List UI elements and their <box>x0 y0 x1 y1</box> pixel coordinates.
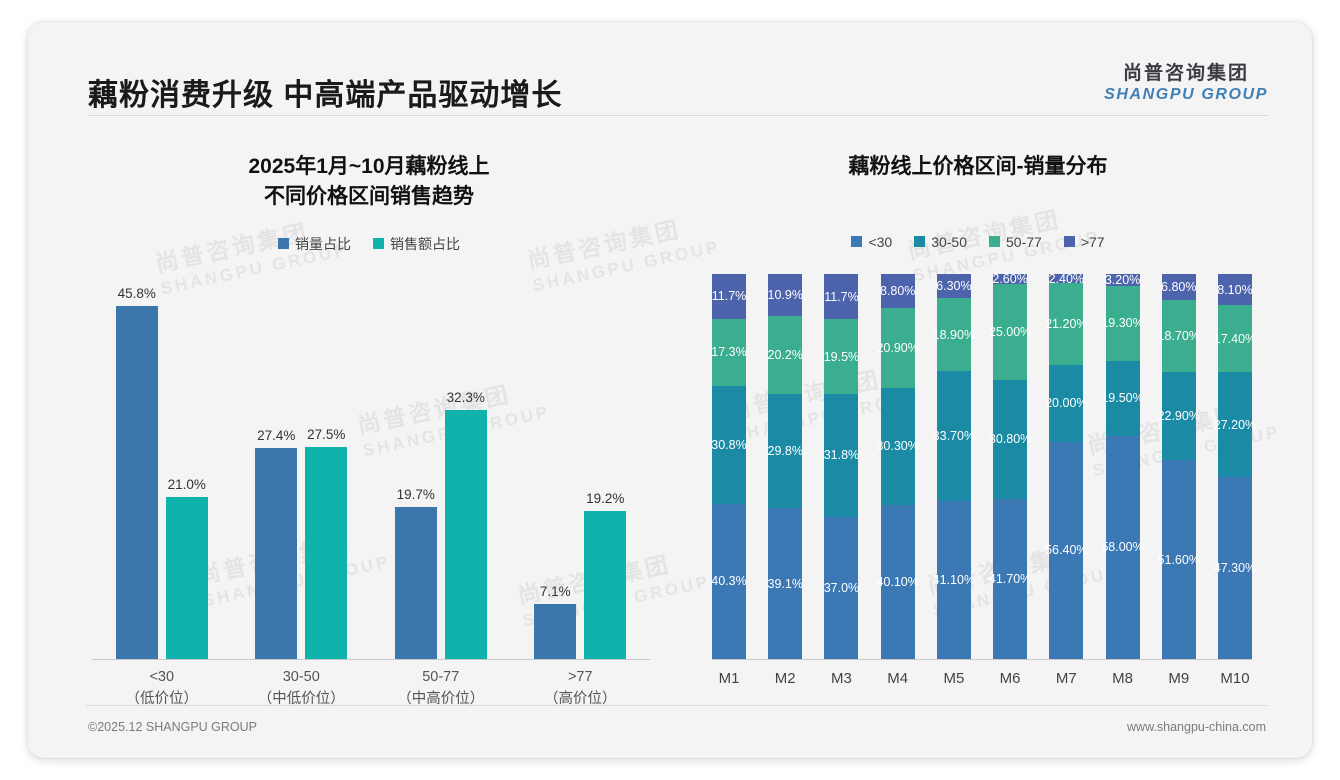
bar-value-label: 27.4% <box>257 428 295 443</box>
stack-segment-label: 27.20% <box>1214 418 1256 432</box>
x-axis-label: <30（低价位） <box>102 667 222 711</box>
stack-segment[interactable]: 30.80% <box>993 380 1027 498</box>
legend-label: >77 <box>1081 234 1105 250</box>
legend-item-77[interactable]: >77 <box>1064 234 1105 250</box>
stack-segment[interactable]: 18.90% <box>937 298 971 371</box>
legend-label: <30 <box>868 234 892 250</box>
stack-segment-label: 3.20% <box>1105 273 1140 287</box>
legend-item-volume[interactable]: 销量占比 <box>278 234 351 254</box>
stack-segment[interactable]: 6.80% <box>1162 274 1196 300</box>
stacked-bar-plot: 11.7%17.3%30.8%40.3%10.9%20.2%29.8%39.1%… <box>712 274 1252 660</box>
stack-segment[interactable]: 41.70% <box>993 499 1027 659</box>
stack-segment[interactable]: 40.10% <box>881 505 915 659</box>
x-axis-label: 50-77（中高价位） <box>381 667 501 711</box>
bar-rect[interactable] <box>305 447 347 659</box>
stack-segment[interactable]: 51.60% <box>1162 460 1196 659</box>
stacked-bar: 6.80%18.70%22.90%51.60% <box>1162 274 1196 659</box>
bar-group: 7.1%19.2% <box>534 274 626 659</box>
stack-segment[interactable]: 29.8% <box>768 394 802 509</box>
stack-segment[interactable]: 39.1% <box>768 508 802 659</box>
stack-segment-label: 39.1% <box>768 577 803 591</box>
left-x-axis-labels: <30（低价位）30-50（中低价位）50-77（中高价位）>77（高价位） <box>92 667 650 711</box>
stack-segment[interactable]: 27.20% <box>1218 372 1252 477</box>
legend-item-50-77[interactable]: 50-77 <box>989 234 1042 250</box>
x-axis-label-month: M7 <box>1049 670 1083 687</box>
legend-label: 销量占比 <box>295 234 351 254</box>
stacked-bar: 3.20%19.30%19.50%58.00% <box>1106 274 1140 659</box>
x-axis-label-month: M8 <box>1106 670 1140 687</box>
bar-value-label: 27.5% <box>307 427 345 442</box>
footer-divider <box>86 705 1268 706</box>
stack-segment-label: 11.7% <box>824 290 859 304</box>
stack-segment[interactable]: 17.3% <box>712 319 746 386</box>
stack-segment-label: 40.3% <box>711 574 746 588</box>
x-axis-label: >77（高价位） <box>520 667 640 711</box>
stack-segment-label: 30.80% <box>989 432 1031 446</box>
stack-segment-label: 19.5% <box>824 350 859 364</box>
stack-segment-label: 11.7% <box>712 289 747 303</box>
left-chart-title-line1: 2025年1月~10月藕粉线上 <box>74 152 664 182</box>
stack-segment-label: 8.10% <box>1217 283 1252 297</box>
stack-segment-label: 6.30% <box>936 279 971 293</box>
stack-segment[interactable]: 10.9% <box>768 274 802 316</box>
stack-segment-label: 37.0% <box>824 581 859 595</box>
left-chart-title: 2025年1月~10月藕粉线上 不同价格区间销售趋势 <box>74 122 664 212</box>
bar-rect[interactable] <box>166 497 208 659</box>
x-axis-label: 30-50（中低价位） <box>241 667 361 711</box>
left-chart-panel: 2025年1月~10月藕粉线上 不同价格区间销售趋势 销量占比 销售额占比 45… <box>74 122 664 712</box>
x-axis-label-month: M5 <box>937 670 971 687</box>
stack-segment-label: 18.90% <box>933 328 975 342</box>
stack-segment[interactable]: 17.40% <box>1218 305 1252 372</box>
stacked-bar: 6.30%18.90%33.70%41.10% <box>937 274 971 659</box>
stack-segment-label: 58.00% <box>1101 540 1143 554</box>
stack-segment-label: 29.8% <box>768 444 803 458</box>
legend-item-30-50[interactable]: 30-50 <box>914 234 967 250</box>
stack-segment-label: 31.8% <box>824 448 859 462</box>
x-axis-label-tier: （低价位） <box>102 689 222 711</box>
x-axis-label-tier: （中低价位） <box>241 689 361 711</box>
stack-segment[interactable]: 47.30% <box>1218 477 1252 659</box>
bar-value-label: 19.7% <box>397 487 435 502</box>
stack-segment-label: 51.60% <box>1158 553 1200 567</box>
stacked-bar: 8.10%17.40%27.20%47.30% <box>1218 274 1252 659</box>
stack-segment[interactable]: 8.80% <box>881 274 915 308</box>
right-chart-title-text: 藕粉线上价格区间-销量分布 <box>678 152 1278 182</box>
stack-segment-label: 8.80% <box>880 284 915 298</box>
bar-group: 27.4%27.5% <box>255 274 347 659</box>
legend-swatch-icon <box>278 238 289 249</box>
bar-column: 19.2% <box>584 274 626 659</box>
stack-segment-label: 30.8% <box>711 438 746 452</box>
stack-segment-label: 20.90% <box>876 341 918 355</box>
slide-header: 藕粉消费升级 中高端产品驱动增长 尚普咨询集团 SHANGPU GROUP <box>28 22 1312 114</box>
left-chart-title-line2: 不同价格区间销售趋势 <box>74 182 664 212</box>
stack-segment[interactable]: 11.7% <box>824 274 858 319</box>
bar-column: 21.0% <box>166 274 208 659</box>
stack-segment-label: 47.30% <box>1214 561 1256 575</box>
stack-segment-label: 56.40% <box>1045 543 1087 557</box>
stack-segment[interactable]: 2.40% <box>1049 274 1083 283</box>
stacked-bar: 2.60%25.00%30.80%41.70% <box>993 274 1027 659</box>
stack-segment[interactable]: 18.70% <box>1162 300 1196 372</box>
legend-label: 销售额占比 <box>390 234 460 254</box>
right-chart-panel: 藕粉线上价格区间-销量分布 <3030-5050-77>77 11.7%17.3… <box>678 122 1278 712</box>
right-chart-legend: <3030-5050-77>77 <box>678 234 1278 250</box>
logo-text-en: SHANGPU GROUP <box>1104 87 1268 103</box>
legend-item-30[interactable]: <30 <box>851 234 892 250</box>
stack-segment[interactable]: 11.7% <box>712 274 746 319</box>
stack-segment[interactable]: 20.00% <box>1049 365 1083 442</box>
bar-value-label: 7.1% <box>540 584 571 599</box>
stack-segment[interactable]: 40.3% <box>712 504 746 659</box>
stack-segment-label: 18.70% <box>1158 329 1200 343</box>
stack-segment[interactable]: 20.90% <box>881 308 915 388</box>
stack-segment-label: 17.40% <box>1214 332 1256 346</box>
stack-segment-label: 22.90% <box>1158 409 1200 423</box>
stack-segment-label: 20.00% <box>1045 396 1087 410</box>
x-axis-label-tier: （高价位） <box>520 689 640 711</box>
bar-rect[interactable] <box>395 507 437 659</box>
stack-segment[interactable]: 8.10% <box>1218 274 1252 305</box>
bar-rect[interactable] <box>445 410 487 659</box>
stack-segment[interactable]: 21.20% <box>1049 283 1083 365</box>
x-axis-label-range: 30-50 <box>241 667 361 689</box>
bar-value-label: 32.3% <box>447 390 485 405</box>
legend-item-sales[interactable]: 销售额占比 <box>373 234 460 254</box>
stack-segment-label: 6.80% <box>1161 280 1196 294</box>
stack-segment[interactable]: 3.20% <box>1106 274 1140 286</box>
stack-segment[interactable]: 31.8% <box>824 394 858 516</box>
stacked-bar: 8.80%20.90%30.30%40.10% <box>881 274 915 659</box>
x-axis-label-month: M10 <box>1218 670 1252 687</box>
bar-rect[interactable] <box>116 306 158 659</box>
legend-label: 50-77 <box>1006 234 1042 250</box>
x-axis-label-range: >77 <box>520 667 640 689</box>
legend-swatch-icon <box>914 236 925 247</box>
stack-segment-label: 19.50% <box>1101 391 1143 405</box>
bar-column: 7.1% <box>534 274 576 659</box>
bar-group: 45.8%21.0% <box>116 274 208 659</box>
stack-segment[interactable]: 30.30% <box>881 388 915 505</box>
stack-segment[interactable]: 25.00% <box>993 284 1027 380</box>
stack-segment-label: 41.70% <box>989 572 1031 586</box>
stack-segment[interactable]: 19.50% <box>1106 361 1140 436</box>
slide-canvas: 尚普咨询集团 SHANGPU GROUP 尚普咨询集团 SHANGPU GROU… <box>28 22 1312 758</box>
grouped-bar-plot: 45.8%21.0%27.4%27.5%19.7%32.3%7.1%19.2% <box>92 274 650 660</box>
legend-label: 30-50 <box>931 234 967 250</box>
x-axis-label-range: 50-77 <box>381 667 501 689</box>
stacked-bar: 11.7%19.5%31.8%37.0% <box>824 274 858 659</box>
stack-segment[interactable]: 22.90% <box>1162 372 1196 460</box>
x-axis-label-range: <30 <box>102 667 222 689</box>
x-axis-label-month: M4 <box>881 670 915 687</box>
x-axis-label-month: M3 <box>824 670 858 687</box>
legend-swatch-icon <box>851 236 862 247</box>
stack-segment-label: 19.30% <box>1101 316 1143 330</box>
legend-swatch-icon <box>373 238 384 249</box>
stack-segment[interactable]: 58.00% <box>1106 436 1140 659</box>
stack-segment-label: 20.2% <box>768 348 803 362</box>
x-axis-label-month: M2 <box>768 670 802 687</box>
stacked-bar: 11.7%17.3%30.8%40.3% <box>712 274 746 659</box>
stack-segment-label: 41.10% <box>933 573 975 587</box>
stack-segment[interactable]: 41.10% <box>937 501 971 659</box>
stack-segment[interactable]: 33.70% <box>937 371 971 501</box>
stack-segment-label: 17.3% <box>711 345 746 359</box>
brand-logo: 尚普咨询集团 SHANGPU GROUP <box>1104 64 1268 103</box>
footer-copyright: ©2025.12 SHANGPU GROUP <box>88 720 257 734</box>
stacked-bar: 10.9%20.2%29.8%39.1% <box>768 274 802 659</box>
bar-column: 27.4% <box>255 274 297 659</box>
bar-value-label: 19.2% <box>586 491 624 506</box>
logo-text-cn: 尚普咨询集团 <box>1104 64 1268 83</box>
stack-segment-label: 33.70% <box>933 429 975 443</box>
stacked-bar: 2.40%21.20%20.00%56.40% <box>1049 274 1083 659</box>
stack-segment-label: 25.00% <box>989 325 1031 339</box>
right-chart-title: 藕粉线上价格区间-销量分布 <box>678 122 1278 212</box>
stack-segment-label: 10.9% <box>768 288 803 302</box>
bar-rect[interactable] <box>584 511 626 659</box>
stack-segment[interactable]: 30.8% <box>712 386 746 504</box>
bar-column: 45.8% <box>116 274 158 659</box>
bar-column: 19.7% <box>395 274 437 659</box>
stack-segment[interactable]: 37.0% <box>824 517 858 659</box>
bar-rect[interactable] <box>255 448 297 659</box>
stack-segment[interactable]: 2.60% <box>993 274 1027 284</box>
stack-segment[interactable]: 6.30% <box>937 274 971 298</box>
bar-value-label: 21.0% <box>168 477 206 492</box>
bar-column: 27.5% <box>305 274 347 659</box>
stack-segment[interactable]: 19.30% <box>1106 286 1140 360</box>
x-axis-label-month: M9 <box>1162 670 1196 687</box>
x-axis-label-month: M1 <box>712 670 746 687</box>
stack-segment-label: 21.20% <box>1045 317 1087 331</box>
page-title: 藕粉消费升级 中高端产品驱动增长 <box>88 70 562 114</box>
stack-segment[interactable]: 56.40% <box>1049 442 1083 659</box>
bar-column: 32.3% <box>445 274 487 659</box>
stack-segment[interactable]: 19.5% <box>824 319 858 394</box>
x-axis-label-month: M6 <box>993 670 1027 687</box>
bar-group: 19.7%32.3% <box>395 274 487 659</box>
bar-group-container: 45.8%21.0%27.4%27.5%19.7%32.3%7.1%19.2% <box>92 274 650 660</box>
stack-segment-label: 30.30% <box>876 439 918 453</box>
left-chart-legend: 销量占比 销售额占比 <box>74 234 664 254</box>
footer-website[interactable]: www.shangpu-china.com <box>1127 720 1266 734</box>
stack-segment-label: 40.10% <box>876 575 918 589</box>
right-x-axis-labels: M1M2M3M4M5M6M7M8M9M10 <box>712 670 1252 687</box>
header-divider <box>88 115 1268 116</box>
legend-swatch-icon <box>989 236 1000 247</box>
x-axis-label-tier: （中高价位） <box>381 689 501 711</box>
legend-swatch-icon <box>1064 236 1075 247</box>
bar-rect[interactable] <box>534 604 576 659</box>
bar-value-label: 45.8% <box>118 286 156 301</box>
stack-segment[interactable]: 20.2% <box>768 316 802 394</box>
